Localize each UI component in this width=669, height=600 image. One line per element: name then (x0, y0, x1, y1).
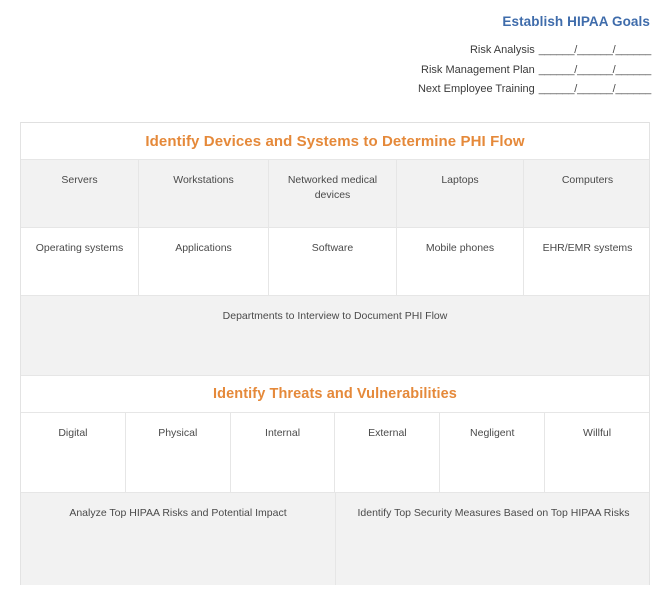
cell-willful[interactable]: Willful (545, 413, 649, 492)
cell-physical[interactable]: Physical (126, 413, 231, 492)
field-label-risk-analysis: Risk Analysis (470, 41, 539, 61)
cell-external[interactable]: External (335, 413, 440, 492)
cell-software[interactable]: Software (269, 228, 397, 295)
cell-laptops[interactable]: Laptops (397, 160, 524, 227)
table-row: Departments to Interview to Document PHI… (21, 296, 649, 376)
field-row-risk-management-plan: Risk Management Plan ______/______/_____… (330, 61, 651, 81)
cell-computers[interactable]: Computers (524, 160, 651, 227)
field-label-next-employee-training: Next Employee Training (418, 80, 539, 100)
cell-digital[interactable]: Digital (21, 413, 126, 492)
cell-analyze-top-hipaa-risks[interactable]: Analyze Top HIPAA Risks and Potential Im… (21, 493, 336, 585)
field-row-risk-analysis: Risk Analysis ______/______/______ (330, 41, 651, 61)
section-header-devices: Identify Devices and Systems to Determin… (21, 123, 649, 160)
section-title-devices: Identify Devices and Systems to Determin… (145, 133, 524, 150)
page-title: Establish HIPAA Goals (330, 14, 651, 30)
table-row: Digital Physical Internal External Negli… (21, 413, 649, 493)
cell-networked-medical-devices[interactable]: Networked medical devices (269, 160, 397, 227)
cell-mobile-phones[interactable]: Mobile phones (397, 228, 524, 295)
field-label-risk-management-plan: Risk Management Plan (421, 61, 539, 81)
cell-operating-systems[interactable]: Operating systems (21, 228, 139, 295)
field-row-next-employee-training: Next Employee Training ______/______/___… (330, 80, 651, 100)
cell-internal[interactable]: Internal (231, 413, 336, 492)
section-title-threats: Identify Threats and Vulnerabilities (213, 386, 457, 402)
table-row: Analyze Top HIPAA Risks and Potential Im… (21, 493, 649, 585)
worksheet-table: Identify Devices and Systems to Determin… (20, 122, 650, 585)
table-row: Servers Workstations Networked medical d… (21, 160, 649, 228)
table-row: Operating systems Applications Software … (21, 228, 649, 296)
cell-identify-top-security-measures[interactable]: Identify Top Security Measures Based on … (336, 493, 651, 585)
cell-applications[interactable]: Applications (139, 228, 269, 295)
cell-negligent[interactable]: Negligent (440, 413, 545, 492)
header-block: Establish HIPAA Goals Risk Analysis ____… (330, 14, 651, 100)
cell-servers[interactable]: Servers (21, 160, 139, 227)
worksheet-page: Establish HIPAA Goals Risk Analysis ____… (0, 0, 669, 600)
section-header-threats: Identify Threats and Vulnerabilities (21, 376, 649, 413)
cell-workstations[interactable]: Workstations (139, 160, 269, 227)
cell-ehr-emr-systems[interactable]: EHR/EMR systems (524, 228, 651, 295)
cell-departments-to-interview[interactable]: Departments to Interview to Document PHI… (21, 296, 649, 375)
field-blank-next-employee-training[interactable]: ______/______/______ (539, 80, 651, 100)
field-blank-risk-analysis[interactable]: ______/______/______ (539, 41, 651, 61)
field-blank-risk-management-plan[interactable]: ______/______/______ (539, 61, 651, 81)
